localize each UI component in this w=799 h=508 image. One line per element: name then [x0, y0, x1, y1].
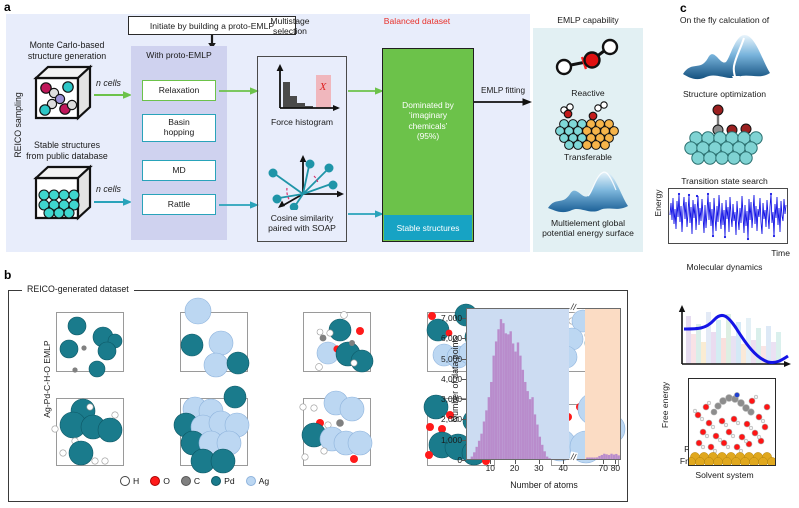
histogram-y-tick-mark	[462, 419, 466, 420]
stable-structures-cube-icon	[32, 162, 94, 224]
stable-db-label: Stable structures from public database	[12, 140, 122, 161]
panel-c-letter: c	[680, 1, 687, 15]
legend-swatch-ag	[246, 476, 256, 486]
histogram-y-tick: 4,000	[424, 374, 462, 384]
method-rattle-label: Rattle	[168, 200, 190, 210]
method-relaxation-label: Relaxation	[159, 86, 200, 96]
histogram-y-tick-mark	[462, 359, 466, 360]
axis-break-bottom-icon: //	[569, 451, 578, 462]
histogram-x-tick-mark	[515, 460, 516, 464]
n-cells-top-label: n cells	[96, 78, 121, 88]
histogram-x-tick: 80	[604, 463, 626, 473]
monte-carlo-label: Monte Carlo-based structure generation	[12, 40, 122, 61]
fe-y-axis-label: Free energy	[660, 370, 670, 440]
rattle-to-multistage-arrow-icon	[219, 200, 259, 210]
mc-to-methods-arrow-icon	[94, 90, 132, 100]
histogram-y-tick: 1,000	[424, 435, 462, 445]
transition-state-search-icon	[682, 104, 772, 172]
cosine-to-balanced-arrow-icon	[348, 209, 384, 219]
solvent-system-label: Solvent system	[650, 470, 799, 480]
emlp-capability-title: EMLP capability	[533, 15, 643, 25]
hist-to-balanced-arrow-icon	[348, 86, 384, 96]
histogram-y-tick-mark	[462, 460, 466, 461]
pes-label: Multielement global potential energy sur…	[533, 218, 643, 239]
db-to-methods-arrow-icon	[94, 197, 132, 207]
molecular-dynamics-plot	[668, 188, 788, 244]
legend-item-h: H	[120, 476, 139, 486]
transition-state-search-label: Transition state search	[650, 176, 799, 186]
md-x-axis-label: Time	[740, 248, 790, 258]
structure-optimization-icon	[680, 30, 772, 88]
method-basin-hopping-label: Basin hopping	[164, 118, 195, 138]
transferable-slab-icon	[548, 100, 628, 150]
histogram-x-tick: 40	[552, 463, 574, 473]
element-legend: H O C Pd Ag	[120, 473, 350, 489]
legend-label-pd: Pd	[224, 476, 235, 486]
histogram-y-tick: 7,000	[424, 313, 462, 323]
legend-label-o: O	[163, 476, 170, 486]
legend-swatch-c	[181, 476, 191, 486]
panel-a-letter: a	[4, 0, 11, 14]
histogram-x-tick-mark	[563, 460, 564, 464]
force-histogram-label: Force histogram	[255, 117, 349, 127]
cosine-similarity-label: Cosine similarity paired with SOAP	[252, 213, 352, 234]
histogram-y-tick: 5,000	[424, 354, 462, 364]
structure-cell	[303, 312, 371, 372]
method-md-label: MD	[172, 166, 185, 176]
legend-label-h: H	[133, 476, 139, 486]
histogram-x-tick: 30	[528, 463, 550, 473]
histogram-y-tick: 0	[424, 455, 462, 465]
agpd-emlp-row-label: Ag-Pd-C-H-O EMLP	[42, 324, 52, 434]
legend-label-c: C	[194, 476, 200, 486]
balanced-dataset-box	[382, 48, 474, 242]
reactive-label: Reactive	[533, 88, 643, 98]
legend-item-pd: Pd	[211, 476, 235, 486]
histogram-plot-area	[466, 308, 621, 460]
structure-optimization-label: Structure optimization	[650, 89, 799, 99]
panel-b-letter: b	[4, 268, 11, 282]
molecular-dynamics-label: Molecular dynamics	[650, 262, 799, 272]
histogram-y-tick: 2,000	[424, 414, 462, 424]
histogram-y-tick: 6,000	[424, 333, 462, 343]
multistage-selection-label: Multistage selection	[250, 16, 330, 37]
legend-swatch-pd	[211, 476, 221, 486]
stable-structures-strip: Stable structures	[384, 215, 472, 240]
force-histogram-icon: X	[268, 62, 340, 116]
legend-swatch-o	[150, 476, 160, 486]
histogram-y-tick-mark	[462, 440, 466, 441]
method-relaxation[interactable]: Relaxation	[142, 80, 216, 101]
legend-label-ag: Ag	[259, 476, 270, 486]
histogram-x-axis-label: Number of atoms	[454, 480, 634, 490]
panel-b-title: REICO-generated dataset	[22, 284, 134, 294]
legend-item-c: C	[181, 476, 200, 486]
structure-cell	[180, 312, 248, 372]
pes-surface-icon	[544, 166, 630, 218]
method-md[interactable]: MD	[142, 160, 216, 181]
reactive-molecule-icon	[552, 36, 624, 84]
structure-cell	[180, 398, 248, 466]
structure-cell	[303, 398, 371, 466]
histogram-y-tick: 3,000	[424, 394, 462, 404]
n-cells-bottom-label: n cells	[96, 184, 121, 194]
monte-carlo-cube-icon	[32, 62, 94, 124]
solvent-system-image	[688, 378, 776, 466]
with-proto-emlp-label: With proto-EMLP	[131, 50, 227, 60]
histogram-y-tick-mark	[462, 379, 466, 380]
md-y-axis-label: Energy	[653, 173, 663, 233]
legend-item-o: O	[150, 476, 170, 486]
histogram-x-tick-mark	[615, 460, 616, 464]
svg-text:X: X	[319, 81, 328, 93]
method-rattle[interactable]: Rattle	[142, 194, 216, 215]
histogram-y-tick-mark	[462, 318, 466, 319]
solvent-system-icon	[689, 379, 775, 465]
histogram-x-tick-mark	[490, 460, 491, 464]
free-energy-plot-icon	[660, 298, 792, 378]
histogram-x-tick-mark	[539, 460, 540, 464]
legend-swatch-h	[120, 476, 130, 486]
histogram-svg	[467, 309, 620, 459]
transferable-label: Transferable	[533, 152, 643, 162]
histogram-y-tick-mark	[462, 399, 466, 400]
legend-item-ag: Ag	[246, 476, 270, 486]
histogram-x-tick: 20	[504, 463, 526, 473]
structure-cell	[56, 312, 124, 372]
cosine-similarity-icon	[265, 152, 345, 210]
imaginary-chemicals-label: Dominated by ‘imaginary chemicals’ (95%)	[382, 100, 474, 141]
histogram-x-tick: 10	[479, 463, 501, 473]
method-basin-hopping[interactable]: Basin hopping	[142, 114, 216, 142]
atoms-histogram: Number of data points Number of atoms 01…	[424, 300, 624, 500]
emlp-fitting-label: EMLP fitting	[475, 86, 531, 96]
stable-structures-strip-label: Stable structures	[397, 223, 460, 233]
histogram-y-tick-mark	[462, 338, 466, 339]
structure-cell	[56, 398, 124, 466]
balanced-dataset-title: Balanced dataset	[352, 16, 482, 26]
panel-c-title: On the fly calculation of	[650, 15, 799, 25]
emlp-fitting-arrow-icon	[474, 97, 532, 107]
md-trace-icon	[669, 189, 787, 243]
relaxation-to-multistage-arrow-icon	[219, 86, 259, 96]
